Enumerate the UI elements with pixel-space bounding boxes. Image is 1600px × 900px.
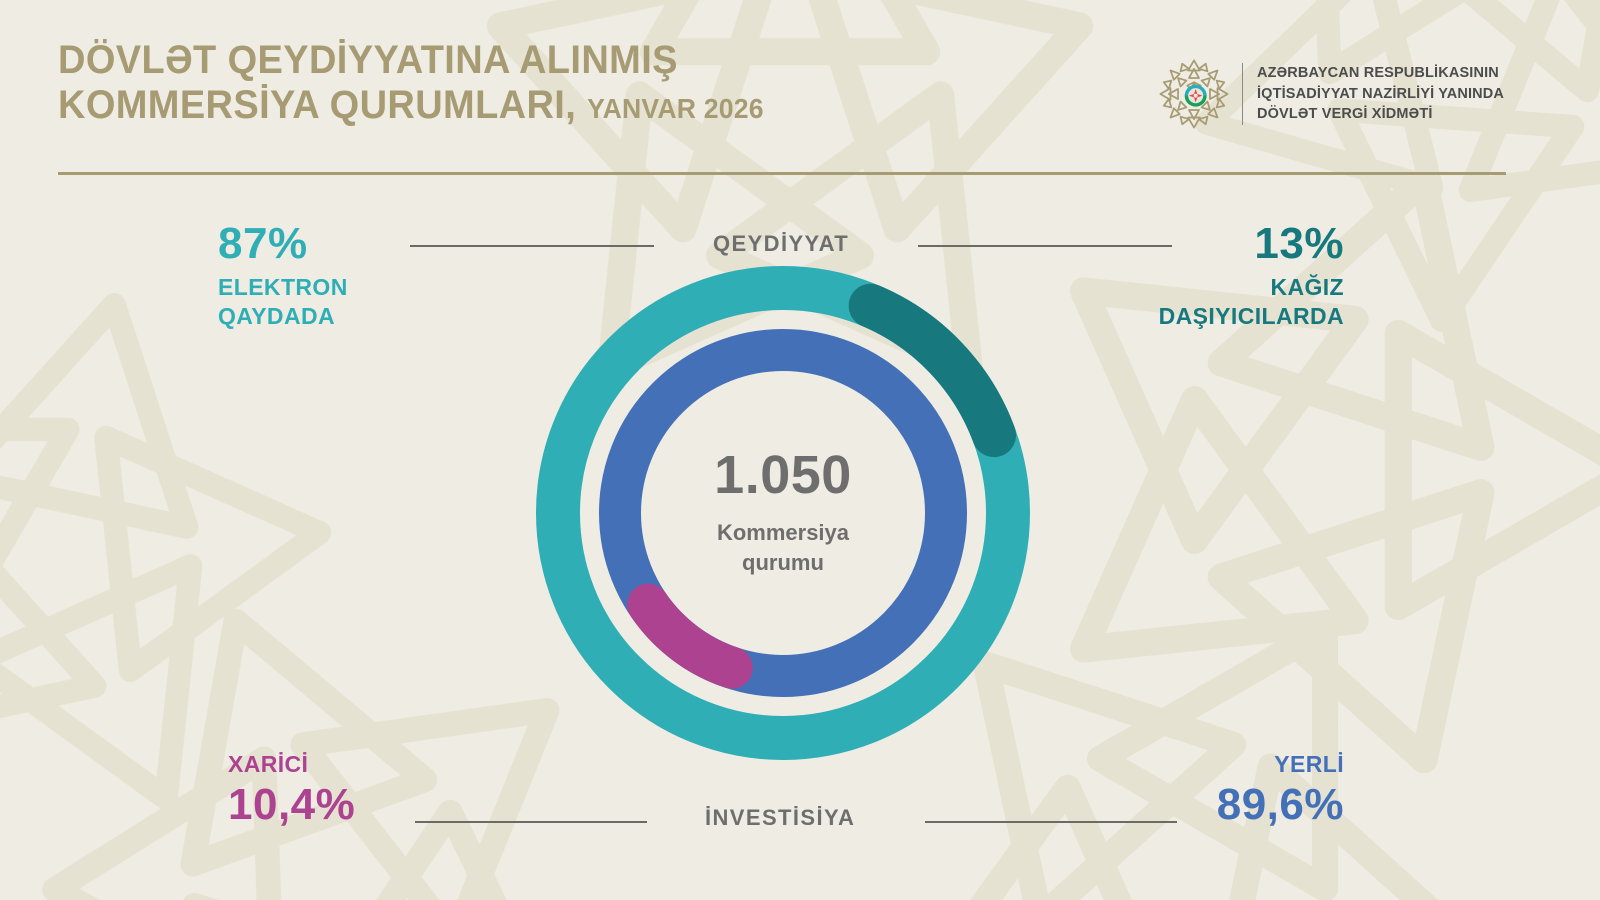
callout-electron-qaydada: 87% ELEKTRON QAYDADA [218, 222, 378, 330]
electron-label-line-2: QAYDADA [218, 302, 378, 331]
organization-logo: AZƏRBAYCAN RESPUBLİKASININ İQTİSADİYYAT … [1152, 52, 1504, 136]
kagiz-label-line-2: DAŞIYICILARDA [1064, 302, 1344, 331]
emblem-center-shield [1185, 85, 1207, 107]
org-line-1: AZƏRBAYCAN RESPUBLİKASININ [1257, 63, 1504, 84]
xarici-percent: 10,4% [228, 783, 448, 828]
title-line-1: DÖVLƏT QEYDİYYATINA ALINMIŞ [58, 38, 913, 83]
yerli-percent: 89,6% [1104, 783, 1344, 828]
logo-divider [1242, 63, 1243, 125]
xarici-label: XARİCİ [228, 750, 448, 779]
kagiz-label: KAĞIZ DAŞIYICILARDA [1064, 273, 1344, 331]
title-month: YANVAR 2026 [587, 93, 764, 124]
yerli-label: YERLİ [1104, 750, 1344, 779]
electron-percent: 87% [218, 222, 378, 267]
axis-label-investisiya: İNVESTİSİYA [705, 805, 855, 831]
axis-label-qeydiyyat: QEYDİYYAT [713, 231, 849, 257]
org-line-2: İQTİSADİYYAT NAZİRLİYİ YANINDA [1257, 84, 1504, 105]
kagiz-percent: 13% [1064, 222, 1344, 267]
callout-kagiz-dasiyicilarda: 13% KAĞIZ DAŞIYICILARDA [1064, 222, 1344, 330]
callout-xarici: XARİCİ 10,4% [228, 750, 448, 828]
title-main: KOMMERSİYA QURUMLARI, [58, 83, 576, 127]
donut-chart [527, 257, 1039, 769]
leader-line-bottom-left [415, 821, 647, 823]
azerbaijan-state-tax-service-emblem-icon [1152, 52, 1236, 136]
kagiz-label-line-1: KAĞIZ [1064, 273, 1344, 302]
leader-line-top-left [410, 245, 654, 247]
organization-name: AZƏRBAYCAN RESPUBLİKASININ İQTİSADİYYAT … [1257, 63, 1504, 125]
infographic-canvas: DÖVLƏT QEYDİYYATINA ALINMIŞ KOMMERSİYA Q… [0, 0, 1600, 900]
org-line-3: DÖVLƏT VERGİ XİDMƏTİ [1257, 104, 1504, 125]
page-title: DÖVLƏT QEYDİYYATINA ALINMIŞ KOMMERSİYA Q… [58, 38, 958, 128]
callout-yerli: YERLİ 89,6% [1104, 750, 1344, 828]
header-divider [58, 172, 1506, 175]
title-line-2: KOMMERSİYA QURUMLARI, YANVAR 2026 [58, 83, 913, 128]
electron-label: ELEKTRON QAYDADA [218, 273, 378, 331]
electron-label-line-1: ELEKTRON [218, 273, 378, 302]
